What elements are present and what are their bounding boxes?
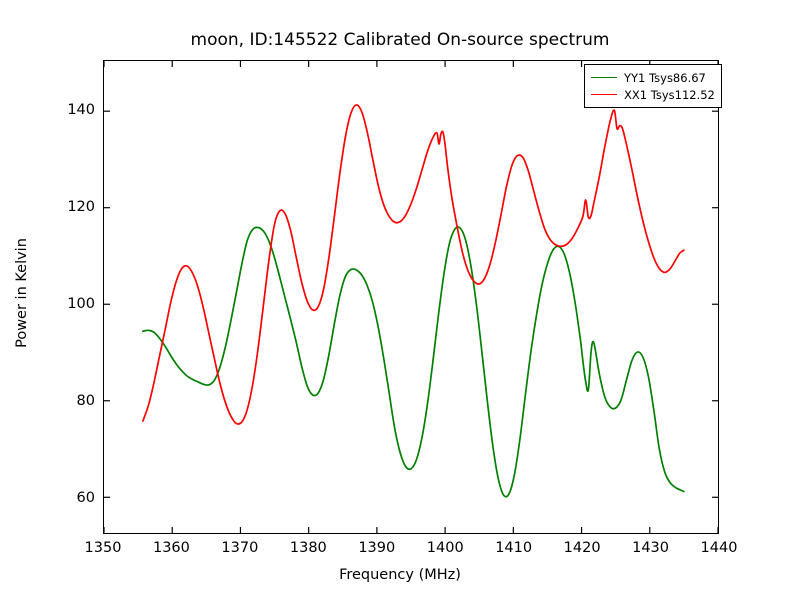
x-tick-label: 1430 — [632, 540, 669, 556]
legend-label: XX1 Tsys112.52 — [624, 88, 715, 102]
plot-axes-area — [103, 60, 719, 534]
x-tick-label: 1440 — [701, 540, 738, 556]
legend-box[interactable]: YY1 Tsys86.67XX1 Tsys112.52 — [584, 64, 722, 108]
y-axis-label: Power in Kelvin — [14, 213, 30, 373]
axis-ticks — [104, 61, 718, 533]
legend-item-xx1[interactable]: XX1 Tsys112.52 — [591, 86, 715, 103]
series-line-yy1 — [143, 227, 684, 497]
y-tick-label: 100 — [67, 296, 95, 312]
legend-label: YY1 Tsys86.67 — [624, 71, 706, 85]
x-tick-label: 1360 — [153, 540, 190, 556]
spectrum-svg — [104, 61, 718, 533]
figure-canvas: moon, ID:145522 Calibrated On-source spe… — [0, 0, 800, 600]
y-tick-label: 140 — [67, 102, 95, 118]
x-tick-label: 1420 — [564, 540, 601, 556]
series-lines — [143, 105, 684, 497]
x-tick-label: 1400 — [427, 540, 464, 556]
series-line-xx1 — [143, 105, 684, 424]
legend-item-yy1[interactable]: YY1 Tsys86.67 — [591, 69, 715, 86]
x-tick-label: 1390 — [358, 540, 395, 556]
x-tick-label: 1380 — [290, 540, 327, 556]
x-tick-labels: 1350136013701380139014001410142014301440 — [0, 540, 800, 564]
x-tick-label: 1350 — [85, 540, 122, 556]
x-tick-label: 1410 — [495, 540, 532, 556]
legend-line-swatch-icon — [591, 94, 617, 95]
x-axis-label: Frequency (MHz) — [0, 567, 800, 583]
y-tick-label: 60 — [77, 490, 95, 506]
legend-line-swatch-icon — [591, 77, 617, 78]
y-tick-label: 80 — [77, 393, 95, 409]
y-tick-label: 120 — [67, 199, 95, 215]
page-title: moon, ID:145522 Calibrated On-source spe… — [0, 30, 800, 50]
x-tick-label: 1370 — [221, 540, 258, 556]
